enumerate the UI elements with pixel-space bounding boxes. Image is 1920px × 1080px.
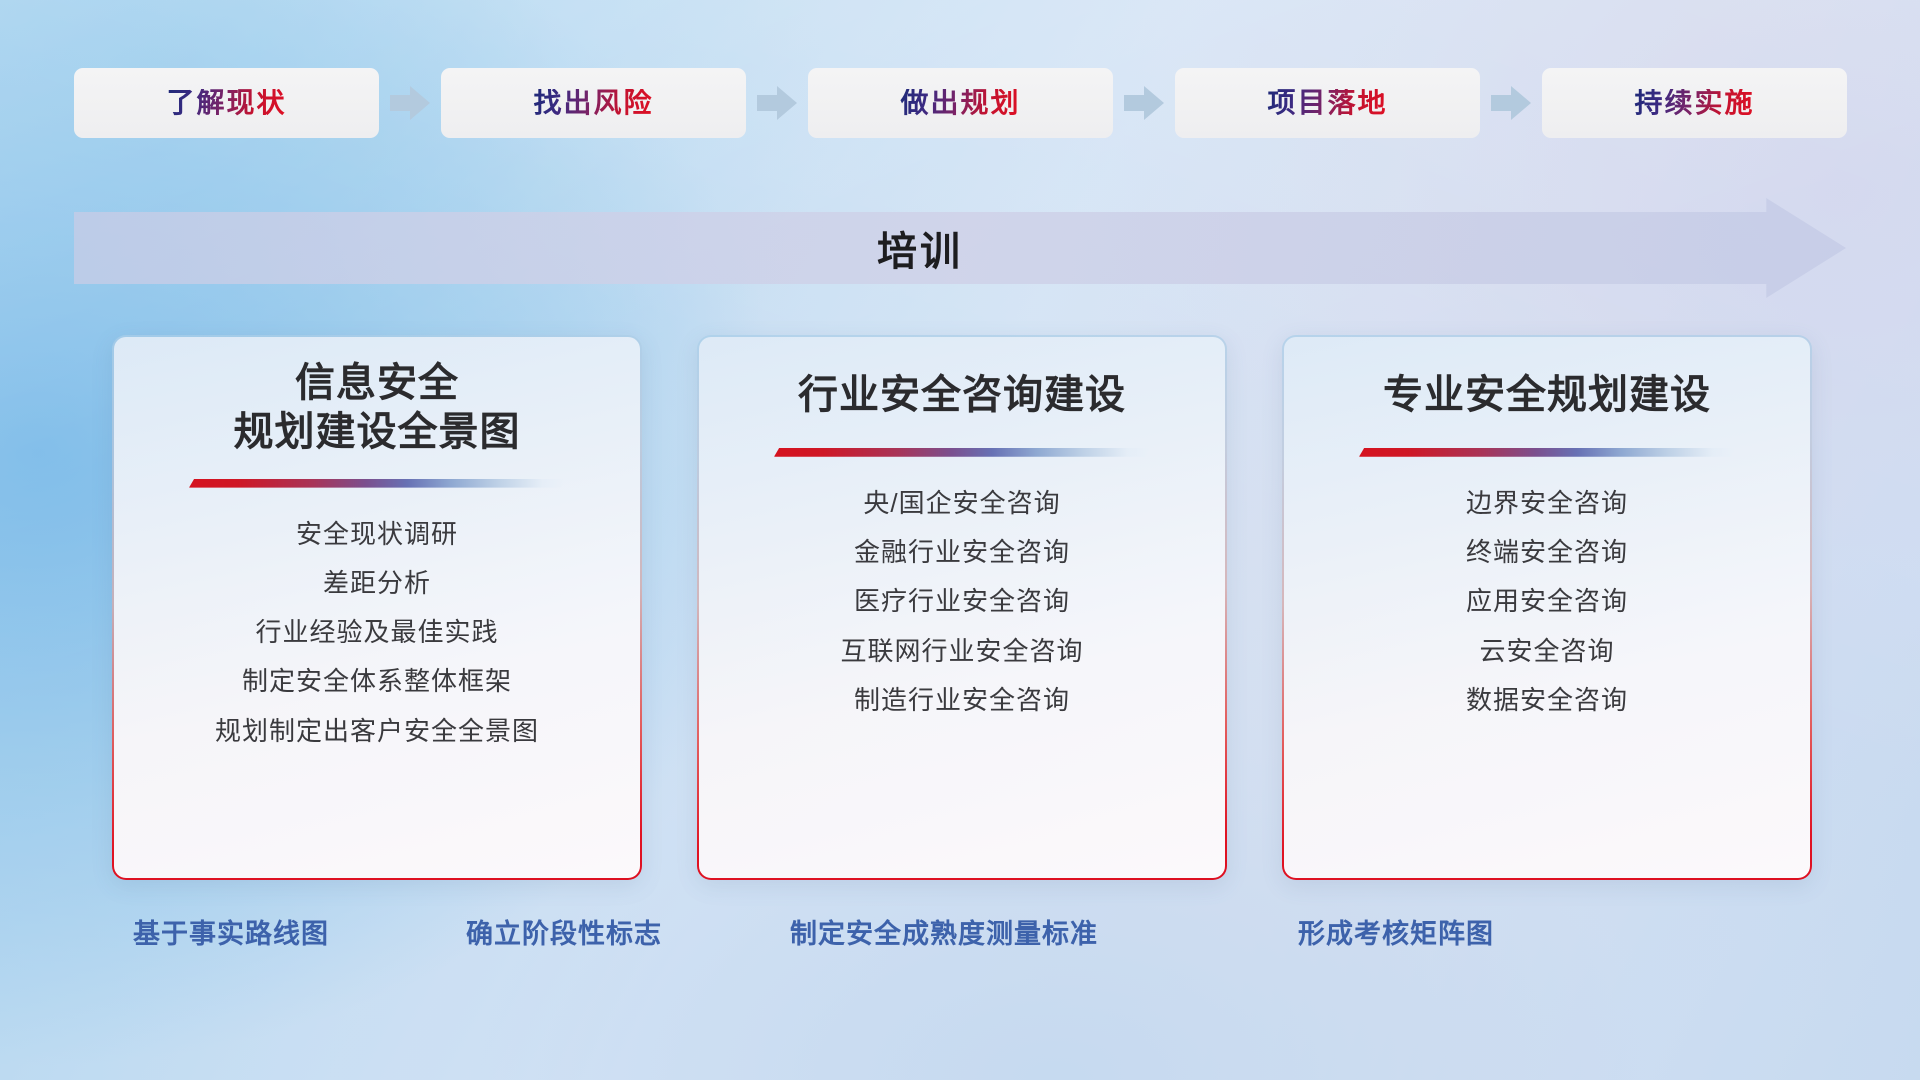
- card-divider: [1359, 448, 1735, 457]
- card-body: 专业安全规划建设边界安全咨询终端安全咨询应用安全咨询云安全咨询数据安全咨询: [1284, 337, 1810, 878]
- step-box-3[interactable]: 做出规划: [808, 68, 1113, 138]
- card-list: 边界安全咨询终端安全咨询应用安全咨询云安全咨询数据安全咨询: [1284, 483, 1810, 720]
- banner-title: 培训: [74, 198, 1846, 298]
- card-title: 行业安全咨询建设: [699, 371, 1225, 420]
- service-card-3[interactable]: 专业安全规划建设边界安全咨询终端安全咨询应用安全咨询云安全咨询数据安全咨询: [1282, 335, 1812, 880]
- card-divider: [189, 479, 565, 488]
- arrow-right-icon: [1480, 86, 1542, 120]
- list-item[interactable]: 制定安全体系整体框架: [242, 661, 512, 701]
- step-box-5[interactable]: 持续实施: [1542, 68, 1847, 138]
- training-banner: 培训: [74, 198, 1846, 298]
- arrow-right-icon: [1113, 86, 1175, 120]
- caption-1: 基于事实路线图: [133, 912, 329, 956]
- list-item[interactable]: 数据安全咨询: [1466, 680, 1628, 720]
- caption-2: 确立阶段性标志: [466, 912, 662, 956]
- caption-4: 形成考核矩阵图: [1298, 912, 1494, 956]
- step-box-2[interactable]: 找出风险: [441, 68, 746, 138]
- step-label: 找出风险: [533, 89, 653, 117]
- caption-3: 制定安全成熟度测量标准: [790, 912, 1098, 956]
- arrow-right-icon: [379, 86, 441, 120]
- list-item[interactable]: 应用安全咨询: [1466, 581, 1628, 621]
- step-label: 做出规划: [900, 89, 1020, 117]
- card-body: 行业安全咨询建设央/国企安全咨询金融行业安全咨询医疗行业安全咨询互联网行业安全咨…: [699, 337, 1225, 878]
- arrow-right-icon: [746, 86, 808, 120]
- list-item[interactable]: 终端安全咨询: [1466, 532, 1628, 572]
- step-box-4[interactable]: 项目落地: [1175, 68, 1480, 138]
- step-box-1[interactable]: 了解现状: [74, 68, 379, 138]
- step-label: 持续实施: [1634, 89, 1754, 117]
- card-divider: [774, 448, 1150, 457]
- list-item[interactable]: 行业经验及最佳实践: [255, 612, 498, 652]
- step-label: 项目落地: [1267, 89, 1387, 117]
- process-steps: 了解现状找出风险做出规划项目落地持续实施: [74, 68, 1846, 138]
- list-item[interactable]: 规划制定出客户安全全景图: [215, 711, 539, 751]
- list-item[interactable]: 边界安全咨询: [1466, 483, 1628, 523]
- list-item[interactable]: 安全现状调研: [296, 514, 458, 554]
- bottom-captions: 基于事实路线图确立阶段性标志制定安全成熟度测量标准形成考核矩阵图: [0, 912, 1920, 956]
- list-item[interactable]: 互联网行业安全咨询: [840, 631, 1083, 671]
- card-list: 安全现状调研差距分析行业经验及最佳实践制定安全体系整体框架规划制定出客户安全全景…: [114, 514, 640, 751]
- list-item[interactable]: 差距分析: [323, 563, 431, 603]
- list-item[interactable]: 医疗行业安全咨询: [854, 581, 1070, 621]
- card-title: 信息安全 规划建设全景图: [114, 359, 640, 457]
- step-label: 了解现状: [166, 89, 286, 117]
- list-item[interactable]: 制造行业安全咨询: [854, 680, 1070, 720]
- service-cards: 信息安全 规划建设全景图安全现状调研差距分析行业经验及最佳实践制定安全体系整体框…: [112, 335, 1812, 880]
- card-list: 央/国企安全咨询金融行业安全咨询医疗行业安全咨询互联网行业安全咨询制造行业安全咨…: [699, 483, 1225, 720]
- card-title: 专业安全规划建设: [1284, 371, 1810, 420]
- service-card-1[interactable]: 信息安全 规划建设全景图安全现状调研差距分析行业经验及最佳实践制定安全体系整体框…: [112, 335, 642, 880]
- card-body: 信息安全 规划建设全景图安全现状调研差距分析行业经验及最佳实践制定安全体系整体框…: [114, 337, 640, 878]
- list-item[interactable]: 央/国企安全咨询: [863, 483, 1060, 523]
- list-item[interactable]: 金融行业安全咨询: [854, 532, 1070, 572]
- slide-root: 了解现状找出风险做出规划项目落地持续实施 培训 信息安全 规划建设全景图安全现状…: [0, 0, 1920, 1080]
- service-card-2[interactable]: 行业安全咨询建设央/国企安全咨询金融行业安全咨询医疗行业安全咨询互联网行业安全咨…: [697, 335, 1227, 880]
- list-item[interactable]: 云安全咨询: [1479, 631, 1614, 671]
